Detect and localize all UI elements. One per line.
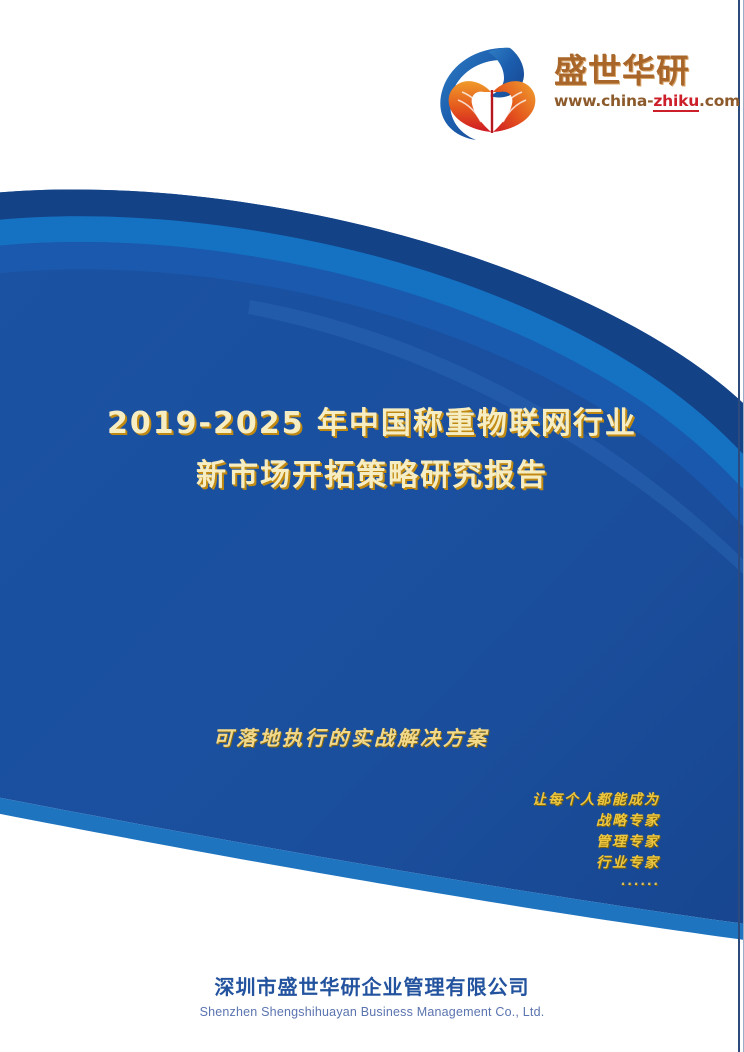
url-prefix: www. [554, 92, 601, 110]
tagline-line-2: 战略专家 [300, 811, 660, 832]
report-title-line-1: 2019-2025 年中国称重物联网行业 [0, 398, 744, 450]
report-cover-page: 盛世华研 www.china-zhiku.com 2019-2025 年中国称重… [0, 0, 744, 1052]
url-china: china- [601, 92, 653, 110]
publisher-name-cn: 深圳市盛世华研企业管理有限公司 [0, 975, 744, 999]
swoosh-book-logo-icon [432, 40, 552, 144]
report-subtitle: 可落地执行的实战解决方案 [0, 722, 702, 751]
tagline-line-3: 管理专家 [300, 832, 660, 853]
tagline-ellipsis: ······ [300, 874, 660, 895]
tagline-line-4: 行业专家 [300, 853, 660, 874]
report-title: 2019-2025 年中国称重物联网行业 新市场开拓策略研究报告 [0, 398, 744, 502]
publisher-name-en: Shenzhen Shengshihuayan Business Managem… [0, 1005, 744, 1019]
report-title-line-2: 新市场开拓策略研究报告 [0, 450, 744, 502]
page-right-border-rule [738, 0, 740, 1052]
brand-logo-block: 盛世华研 www.china-zhiku.com [432, 36, 712, 148]
logo-website-url: www.china-zhiku.com [554, 94, 716, 110]
logo-wordmark: 盛世华研 www.china-zhiku.com [554, 54, 716, 110]
url-zhiku: zhiku [653, 92, 699, 112]
url-suffix: .com [699, 92, 740, 110]
logo-company-name-cn: 盛世华研 [554, 54, 716, 87]
tagline-line-1: 让每个人都能成为 [300, 790, 660, 811]
brand-tagline-block: 让每个人都能成为 战略专家 管理专家 行业专家 ······ [300, 790, 660, 895]
publisher-footer: 深圳市盛世华研企业管理有限公司 Shenzhen Shengshihuayan … [0, 975, 744, 1019]
